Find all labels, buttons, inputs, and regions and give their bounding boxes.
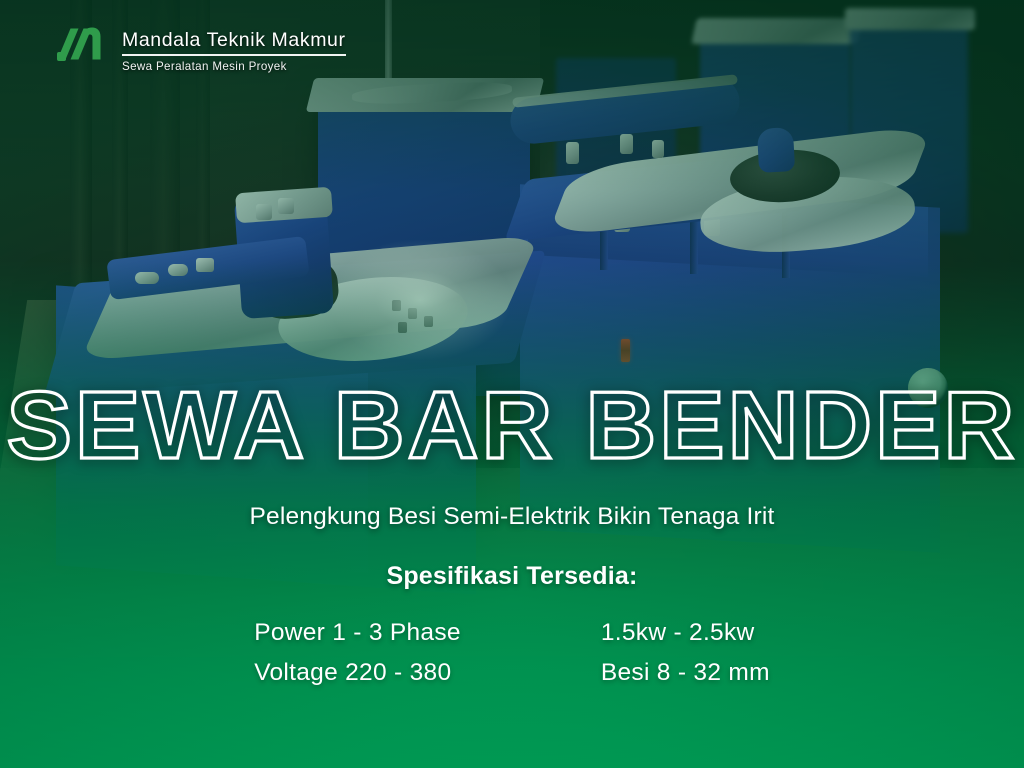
spec-column-left: Power 1 - 3 Phase Voltage 220 - 380 — [254, 620, 461, 685]
spec-item: Besi 8 - 32 mm — [601, 660, 770, 686]
power-switch-indicator — [621, 339, 630, 362]
page-title: SEWA BAR BENDER — [0, 378, 1024, 474]
brand-divider — [122, 54, 346, 56]
subtitle: Pelengkung Besi Semi-Elektrik Bikin Tena… — [0, 503, 1024, 531]
background-machine-top — [691, 18, 863, 44]
spec-column-right: 1.5kw - 2.5kw Besi 8 - 32 mm — [601, 620, 770, 685]
spec-heading: Spesifikasi Tersedia: — [0, 562, 1024, 591]
spec-item: 1.5kw - 2.5kw — [601, 620, 770, 646]
spec-item: Voltage 220 - 380 — [254, 660, 461, 686]
brand-header: Mandala Teknik Makmur Sewa Peralatan Mes… — [52, 26, 346, 76]
spec-list: Power 1 - 3 Phase Voltage 220 - 380 1.5k… — [0, 620, 1024, 685]
brand-text-block: Mandala Teknik Makmur Sewa Peralatan Mes… — [122, 29, 346, 74]
disc-slot — [392, 300, 401, 311]
machine-bolt — [168, 264, 188, 276]
machine-bolt — [135, 272, 159, 284]
machine-bolt — [196, 258, 214, 272]
disc-slot — [398, 322, 407, 333]
disc-slot — [424, 316, 433, 327]
machine-bolt — [620, 134, 633, 154]
machine-bolt — [256, 204, 272, 220]
promo-banner: Mandala Teknik Makmur Sewa Peralatan Mes… — [0, 0, 1024, 768]
brand-tagline: Sewa Peralatan Mesin Proyek — [122, 60, 346, 73]
disc-slot — [408, 308, 417, 319]
background-machine-top — [845, 8, 975, 30]
machine-bolt — [566, 142, 579, 164]
brand-name: Mandala Teknik Makmur — [122, 29, 346, 51]
spec-item: Power 1 - 3 Phase — [254, 620, 461, 646]
mandala-m-logo-icon — [52, 26, 108, 76]
machine-bolt — [652, 140, 664, 158]
right-machine-pin — [757, 127, 795, 173]
machine-bolt — [278, 198, 294, 214]
